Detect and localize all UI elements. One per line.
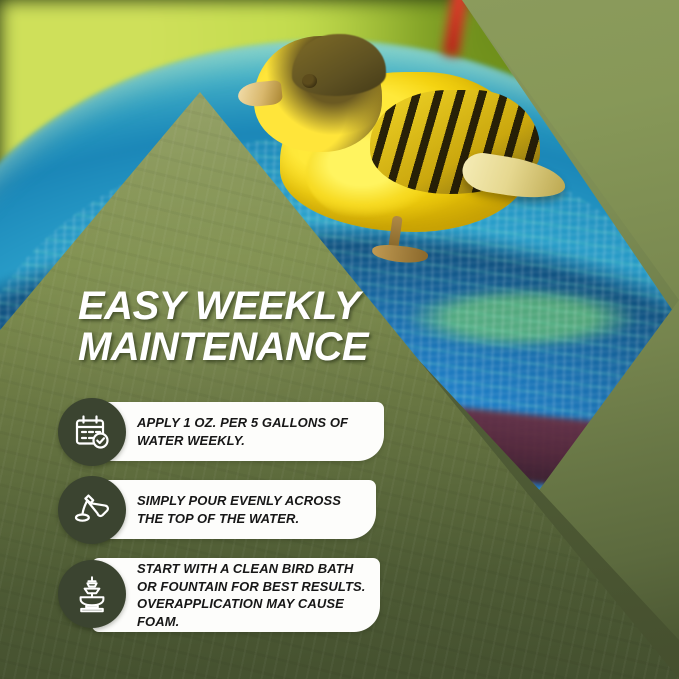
step-text: START WITH A CLEAN BIRD BATH OR FOUNTAIN…	[137, 558, 387, 632]
step-text: APPLY 1 OZ. PER 5 GALLONS OF WATER WEEKL…	[137, 402, 377, 461]
step-text: SIMPLY POUR EVENLY ACROSS THE TOP OF THE…	[137, 480, 377, 539]
pouring-bottle-icon	[58, 476, 126, 544]
list-item: START WITH A CLEAN BIRD BATH OR FOUNTAIN…	[58, 554, 458, 636]
list-item: SIMPLY POUR EVENLY ACROSS THE TOP OF THE…	[58, 476, 458, 543]
poster-content: EASY WEEKLY MAINTENANCE	[0, 0, 679, 679]
list-item: APPLY 1 OZ. PER 5 GALLONS OF WATER WEEKL…	[58, 398, 458, 465]
fountain-icon	[58, 560, 126, 628]
calendar-check-icon	[58, 398, 126, 466]
product-infographic-poster: EASY WEEKLY MAINTENANCE	[0, 0, 679, 679]
page-title: EASY WEEKLY MAINTENANCE	[78, 286, 408, 368]
instruction-steps-list: APPLY 1 OZ. PER 5 GALLONS OF WATER WEEKL…	[58, 398, 458, 647]
